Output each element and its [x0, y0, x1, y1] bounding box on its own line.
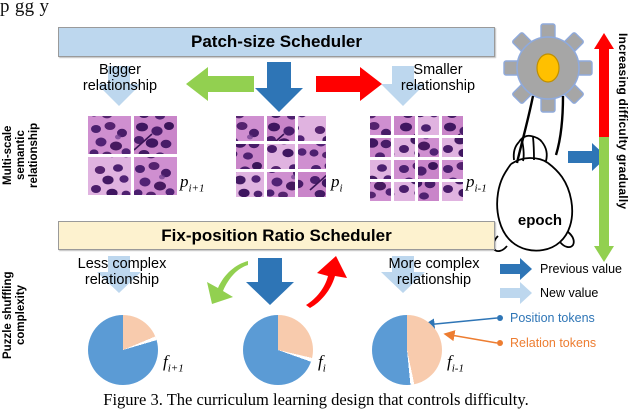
difficulty-gradient-arrow — [594, 33, 614, 262]
patch-label-p-i-minus-1: pi-1 — [466, 172, 487, 194]
patch-grid-3x3 — [236, 116, 326, 197]
pie-label-f-i: fi — [318, 352, 326, 374]
difficulty-axis-label: Increasing difficulty gradually — [616, 33, 630, 261]
axis-label-puzzle: Puzzle shuffling complexity — [2, 255, 30, 375]
pie-chart-f-i-plus-1 — [88, 315, 158, 385]
axis-label-multiscale: Multi-scale semantic relationship — [2, 100, 30, 210]
fix-position-scheduler-box: Fix-position Ratio Scheduler — [58, 221, 495, 250]
figure-caption: Figure 3. The curriculum learning design… — [0, 390, 632, 410]
figure-3-curriculum-learning: p gg y — [0, 0, 632, 418]
pie-slice-separator — [372, 315, 442, 385]
legend-relation-tokens-label: Relation tokens — [510, 336, 596, 350]
pie-chart-f-i — [243, 315, 313, 385]
legend-previous-value-icon — [500, 258, 532, 280]
patch-label-p-i-plus-1: pi+1 — [180, 172, 204, 194]
pie-slice-separator — [88, 315, 158, 385]
patch-size-scheduler-box: Patch-size Scheduler — [58, 27, 495, 57]
pie-chart-f-i-minus-1 — [372, 315, 442, 385]
gear-icon — [504, 24, 592, 163]
pie-label-f-i-plus-1: fi+1 — [163, 352, 184, 374]
bigger-relationship-label: Bigger relationship — [74, 62, 166, 94]
less-complex-label: Less complex relationship — [68, 256, 176, 288]
previous-value-arrow-row2 — [246, 258, 294, 305]
more-complex-label: More complex relationship — [378, 256, 490, 288]
legend-new-value-icon — [500, 282, 532, 304]
previous-value-arrow-row1 — [255, 62, 303, 112]
legend-position-tokens-label: Position tokens — [510, 311, 595, 325]
pie-label-f-i-minus-1: fi-1 — [447, 352, 464, 374]
pie-slice-separator — [243, 315, 313, 385]
smaller-relationship-arrow — [316, 67, 382, 101]
legend-previous-value-label: Previous value — [540, 262, 622, 276]
patch-grid-2x2 — [88, 116, 177, 195]
epoch-bag-icon — [493, 136, 574, 251]
position-tokens-leader — [425, 315, 503, 325]
bigger-relationship-arrow — [186, 67, 254, 101]
more-complex-arrow — [306, 256, 347, 308]
smaller-relationship-label: Smaller relationship — [388, 62, 488, 94]
patch-grid-4x4 — [370, 116, 463, 201]
relation-tokens-leader — [445, 334, 503, 346]
patch-label-p-i: pi — [331, 172, 343, 194]
epoch-label: epoch — [505, 212, 575, 229]
legend-new-value-label: New value — [540, 286, 598, 300]
less-complex-arrow — [207, 261, 248, 304]
